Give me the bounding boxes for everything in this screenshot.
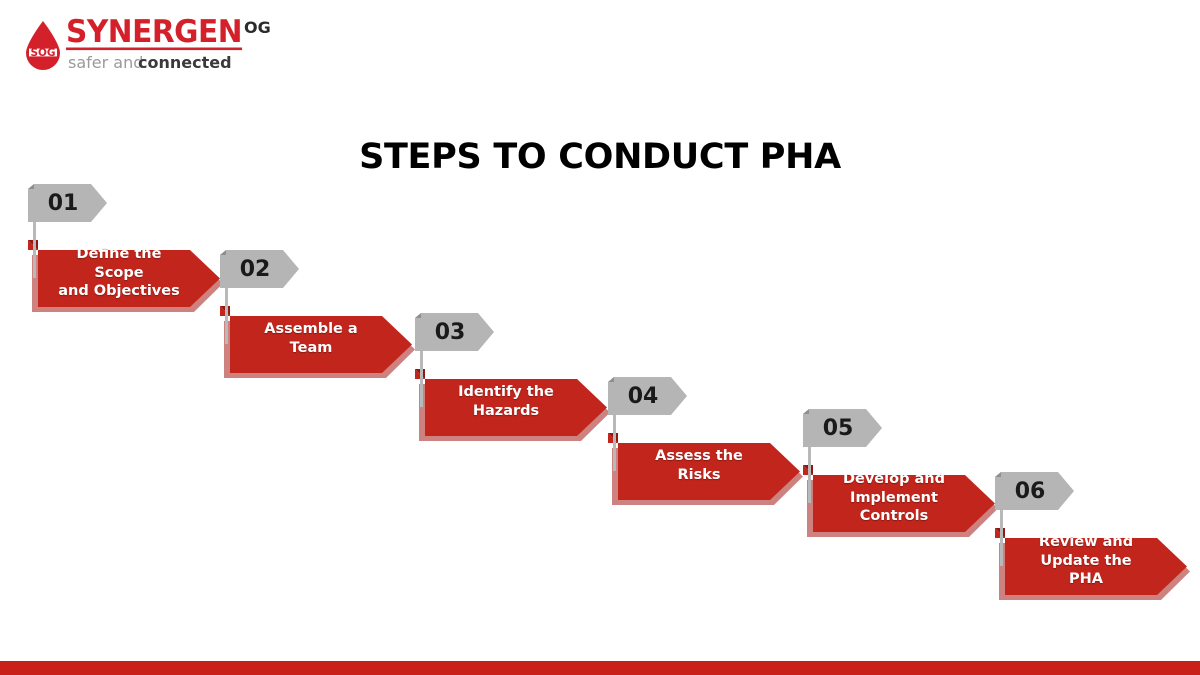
step-number-06: 06	[995, 472, 1061, 510]
step-flag-06: 06	[995, 472, 1075, 510]
step-number-04: 04	[608, 377, 674, 415]
step-pole-04	[613, 413, 616, 471]
step-band-06[interactable]: Review and Update the PHA	[995, 528, 1191, 600]
step-pole-06	[1000, 508, 1003, 566]
step-number-03: 03	[415, 313, 481, 351]
step-flag-02: 02	[220, 250, 300, 288]
step-band-01[interactable]: Define the Scope and Objectives	[28, 240, 224, 312]
step-flag-05: 05	[803, 409, 883, 447]
step-label-05: Develop and Implement Controls	[803, 465, 973, 531]
step-number-05: 05	[803, 409, 869, 447]
step-label-03: Identify the Hazards	[415, 369, 585, 435]
step-flag-04: 04	[608, 377, 688, 415]
step-label-04: Assess the Risks	[608, 433, 778, 499]
step-band-05[interactable]: Develop and Implement Controls	[803, 465, 999, 537]
step-band-04[interactable]: Assess the Risks	[608, 433, 804, 505]
step-pole-05	[808, 445, 811, 503]
step-pole-03	[420, 349, 423, 407]
step-number-02: 02	[220, 250, 286, 288]
step-label-06: Review and Update the PHA	[995, 528, 1165, 594]
step-number-01: 01	[28, 184, 94, 222]
steps-diagram: Define the Scope and Objectives01Assembl…	[0, 0, 1200, 675]
step-label-02: Assemble a Team	[220, 306, 390, 372]
step-flag-03: 03	[415, 313, 495, 351]
step-flag-01: 01	[28, 184, 108, 222]
step-pole-02	[225, 286, 228, 344]
step-band-03[interactable]: Identify the Hazards	[415, 369, 611, 441]
footer-accent-bar	[0, 661, 1200, 675]
step-label-01: Define the Scope and Objectives	[28, 240, 198, 306]
step-band-02[interactable]: Assemble a Team	[220, 306, 416, 378]
step-pole-01	[33, 220, 36, 278]
